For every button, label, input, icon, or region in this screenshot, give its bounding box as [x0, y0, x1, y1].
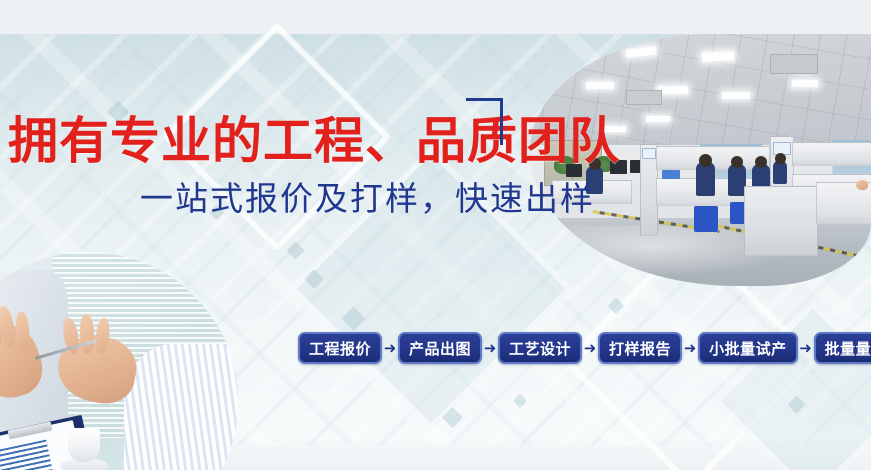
meeting-coffee-cup: [68, 428, 100, 462]
flow-step-2[interactable]: 产品出图: [398, 332, 482, 364]
flow-step-1[interactable]: 工程报价: [298, 332, 382, 364]
office-stool-1: [694, 206, 718, 232]
office-parts-tray: [662, 170, 680, 179]
flow-arrow-icon-4: ➜: [682, 341, 698, 356]
ceiling-vent: [770, 54, 818, 74]
flow-arrow-icon-5: ➜: [798, 341, 814, 356]
flow-step-4[interactable]: 打样报告: [598, 332, 682, 364]
office-person-2: [696, 162, 715, 196]
office-person-3-head: [731, 156, 743, 168]
partition-tag-1: [642, 148, 656, 159]
office-person-5-head: [775, 153, 786, 164]
flow-arrow-icon-3: ➜: [582, 341, 598, 356]
office-partition-3: [744, 186, 818, 256]
meeting-person-right-shirt: [124, 344, 238, 470]
flow-step-3[interactable]: 工艺设计: [498, 332, 582, 364]
flow-step-5[interactable]: 小批量试产: [698, 332, 798, 364]
office-person-4-head: [755, 156, 767, 168]
flow-arrow-icon-2: ➜: [482, 341, 498, 356]
page-title: 拥有专业的工程、品质团队: [8, 116, 620, 166]
background-top-band: [0, 0, 871, 36]
ceiling-vent-2: [626, 90, 662, 105]
flow-arrow-icon-1: ➜: [382, 341, 398, 356]
page-subtitle: 一站式报价及打样，快速出样: [140, 182, 595, 215]
corner-bracket-icon: [466, 98, 503, 145]
office-person-2-head: [699, 154, 712, 167]
promo-banner: 拥有专业的工程、品质团队 一站式报价及打样，快速出样 工程报价 ➜ 产品出图 ➜…: [0, 0, 871, 470]
process-flow: 工程报价 ➜ 产品出图 ➜ 工艺设计 ➜ 打样报告 ➜ 小批量试产 ➜ 批量量产: [298, 332, 871, 364]
office-bench-shelf-2: [792, 142, 871, 166]
business-meeting-photo: [0, 252, 238, 470]
flow-step-6[interactable]: 批量量产: [814, 332, 871, 364]
office-person-6-hand: [856, 180, 868, 190]
